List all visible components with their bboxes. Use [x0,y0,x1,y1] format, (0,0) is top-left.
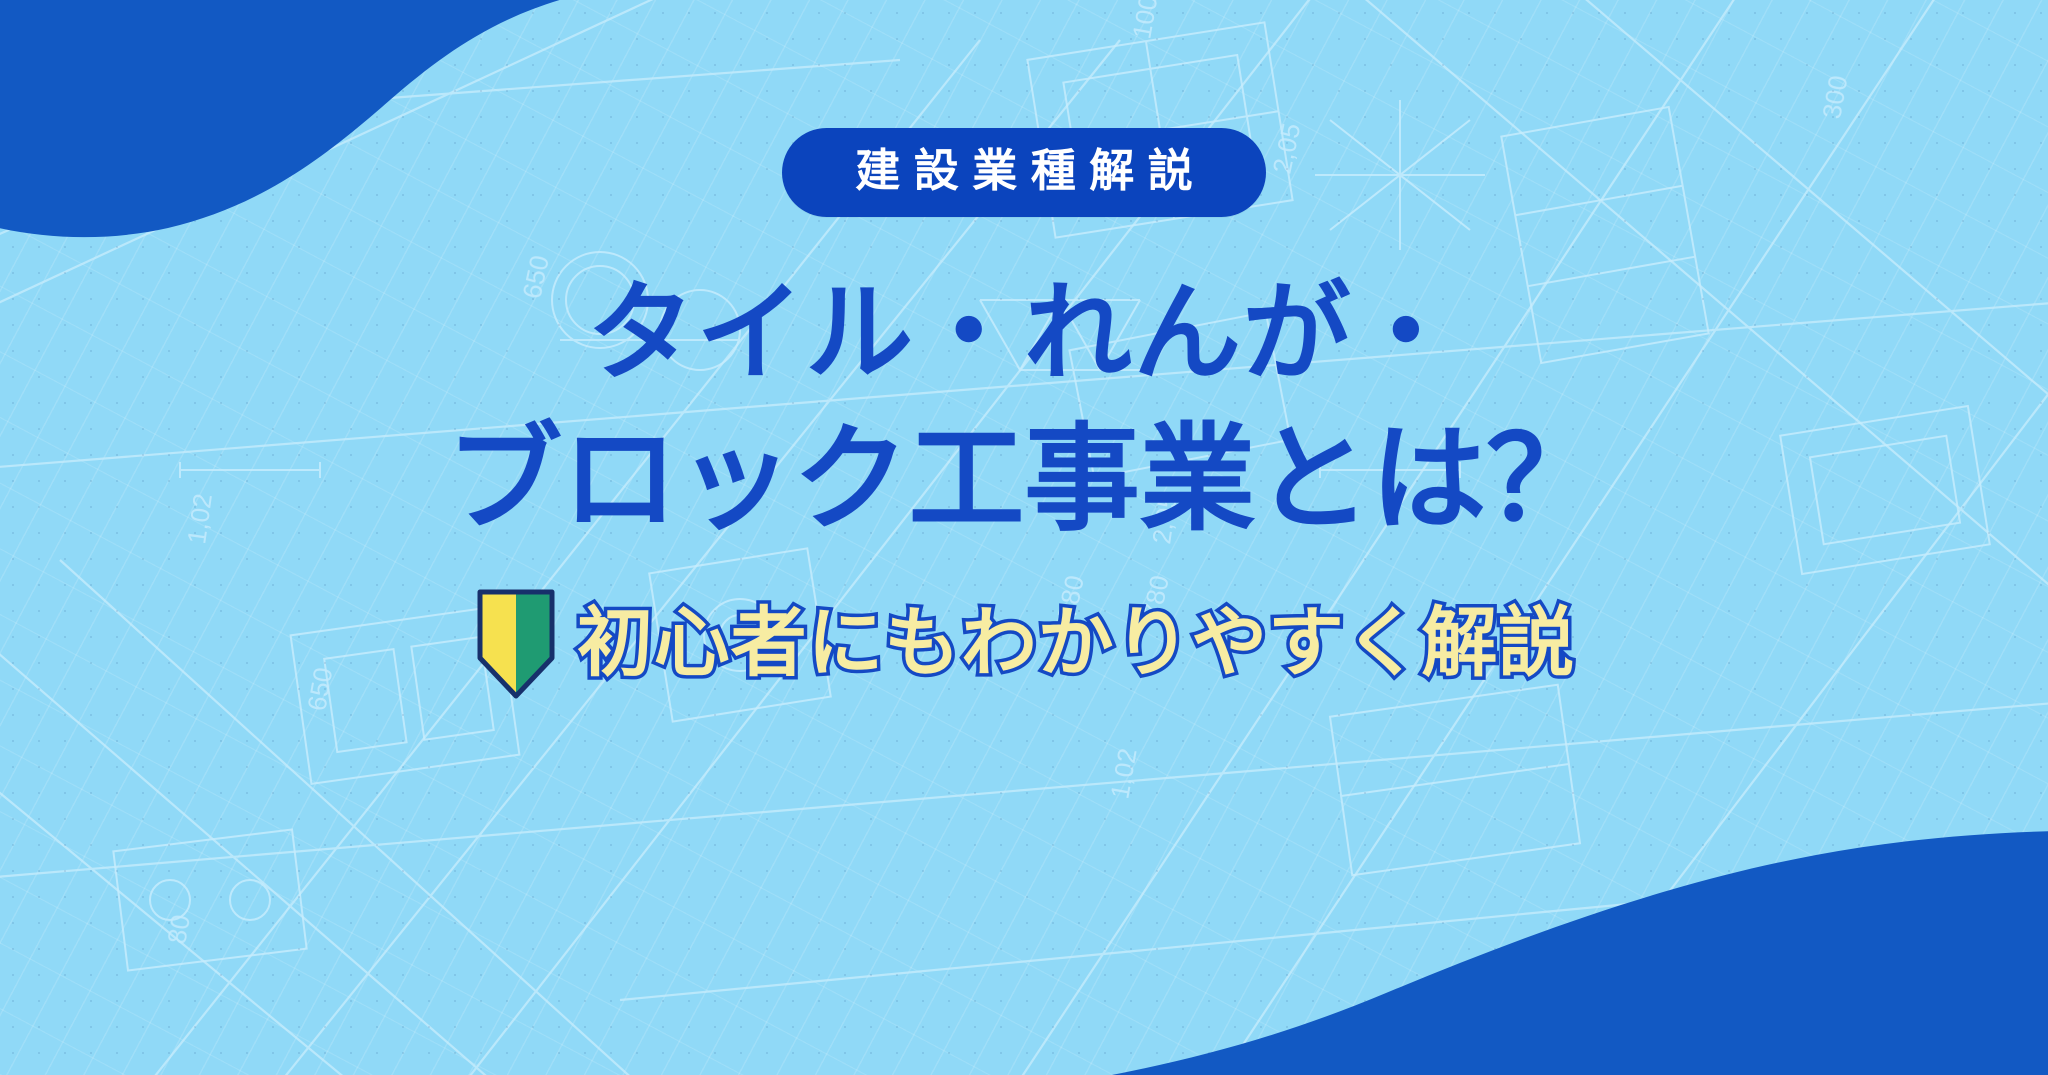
category-badge: 建設業種解説 [782,128,1267,217]
title-line-1: タイル・れんが・ [446,263,1601,403]
banner-content: 建設業種解説 タイル・れんが・ ブロック工事業とは？ 初心者にもわかりやすく解説 [0,0,2048,1075]
page-title: タイル・れんが・ ブロック工事業とは？ [446,263,1601,554]
title-line-2: ブロック工事業とは？ [446,404,1601,555]
banner-canvas: 650 780 780 1,02 2,05 2,05 650 1,02 300 … [0,0,2048,1075]
beginner-leaf-mark-icon [473,584,559,702]
subtitle-text: 初心者にもわかりやすく解説 [577,602,1575,686]
subtitle-row: 初心者にもわかりやすく解説 [473,584,1575,702]
